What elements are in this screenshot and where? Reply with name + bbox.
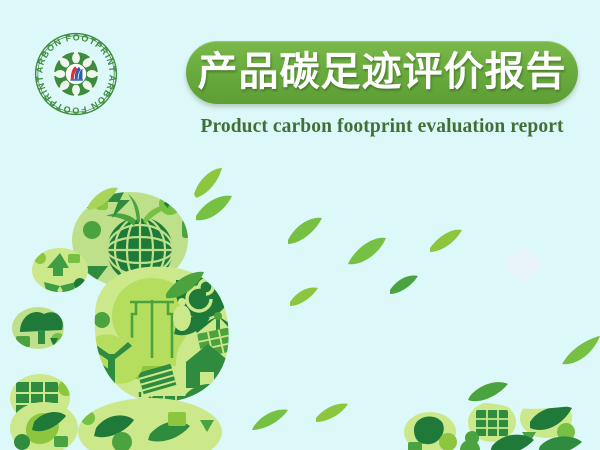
- title-banner: 产品碳足迹评价报告: [186, 41, 578, 104]
- eco-footprint-illustration: [0, 150, 600, 450]
- page-subtitle: Product carbon footprint evaluation repo…: [186, 116, 578, 138]
- carbon-footprint-seal-logo: CARBON FOOTPRINT · CARBON FOOTPRINT ·: [33, 31, 119, 117]
- slide-canvas: CARBON FOOTPRINT · CARBON FOOTPRINT ·: [0, 0, 600, 450]
- page-title: 产品碳足迹评价报告: [198, 52, 567, 94]
